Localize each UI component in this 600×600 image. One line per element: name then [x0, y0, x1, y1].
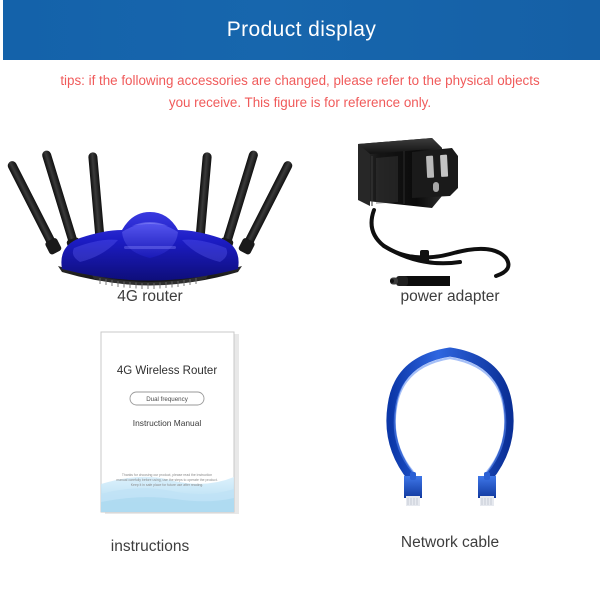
manual-cover-subtitle: Instruction Manual	[133, 418, 202, 428]
tips-note: tips: if the following accessories are c…	[0, 70, 600, 114]
product-item-network-cable: Network cable	[300, 326, 600, 551]
svg-text:Dual frequency: Dual frequency	[146, 396, 189, 403]
dc-barrel-connector	[390, 276, 450, 286]
ethernet-cable-icon	[300, 326, 600, 526]
instruction-manual-icon: 4G Wireless Router Dual frequency Instru…	[0, 326, 300, 526]
manual-cover-title: 4G Wireless Router	[117, 365, 218, 377]
manual-fineprint: Thanks for choosing our product, please …	[116, 473, 217, 487]
product-grid: 4G router	[0, 126, 600, 576]
svg-text:Keep it in safe place for futu: Keep it in safe place for future use aft…	[131, 483, 203, 487]
wifi-router-icon	[0, 126, 300, 296]
product-item-instructions: 4G Wireless Router Dual frequency Instru…	[0, 326, 300, 551]
cable-loop	[391, 352, 509, 478]
product-caption-network-cable: Network cable	[300, 534, 600, 552]
product-item-power-adapter: power adapter	[300, 126, 600, 351]
page-header-banner: Product display	[3, 0, 600, 60]
rj45-connector-right	[478, 472, 496, 506]
svg-text:manual carefully before using,: manual carefully before using, use the s…	[116, 478, 217, 482]
svg-text:Thanks for choosing our produc: Thanks for choosing our product, please …	[122, 473, 212, 477]
manual-cover-badge: Dual frequency	[130, 392, 204, 405]
product-caption-router: 4G router	[0, 288, 300, 306]
adapter-prongs	[412, 148, 458, 198]
page-title: Product display	[227, 18, 377, 42]
cable-tie	[420, 250, 429, 263]
product-caption-instructions: instructions	[0, 538, 300, 556]
adapter-cable	[372, 210, 509, 276]
router-body	[61, 212, 238, 281]
rj45-connector-left	[404, 472, 422, 506]
product-item-router: 4G router	[0, 126, 300, 351]
power-adapter-icon	[300, 126, 600, 296]
product-caption-power-adapter: power adapter	[300, 288, 600, 306]
